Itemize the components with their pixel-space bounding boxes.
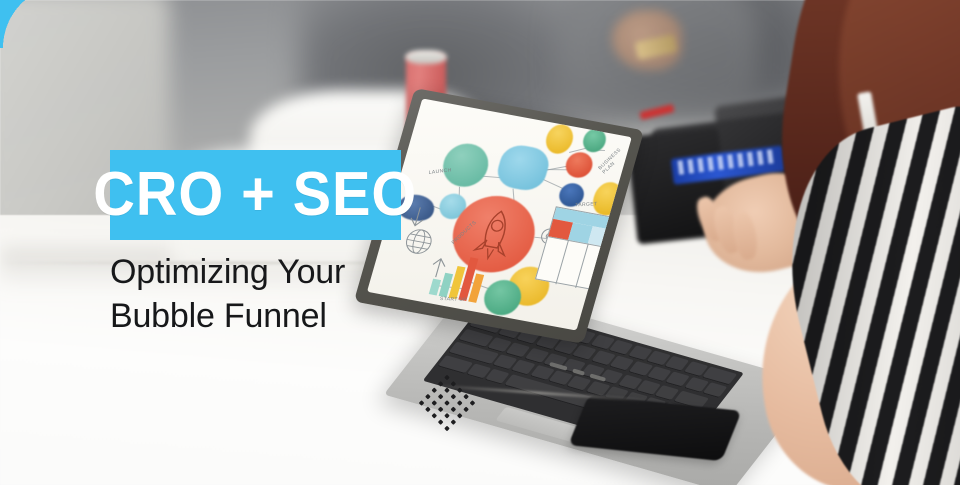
- grid-dot: [457, 387, 463, 393]
- grid-dot: [438, 420, 444, 426]
- screen-label-plan: BUSINESS PLAN: [597, 149, 625, 176]
- blue-corner-wedge: [0, 0, 60, 48]
- grid-dot: [464, 394, 470, 400]
- grid-dot: [451, 420, 457, 426]
- grid-dot: [444, 387, 450, 393]
- grid-dot: [451, 407, 457, 413]
- grid-dot: [438, 394, 444, 400]
- grid-dot: [431, 387, 437, 393]
- screen-label-target: TARGET: [575, 201, 597, 208]
- grid-dot: [457, 400, 463, 406]
- grid-dot: [425, 394, 431, 400]
- headline-text: CRO + SEO: [94, 163, 418, 227]
- grid-dot: [457, 413, 463, 419]
- subheadline-line-1: Optimizing Your: [110, 250, 530, 294]
- grid-dot: [425, 407, 431, 413]
- grid-dot: [470, 400, 476, 406]
- grid-dot: [464, 407, 470, 413]
- grid-dot: [444, 413, 450, 419]
- grid-dot: [431, 400, 437, 406]
- bubble-blue-panel: [493, 142, 553, 193]
- subheadline: Optimizing Your Bubble Funnel: [110, 250, 530, 338]
- grid-dot: [451, 394, 457, 400]
- headline-badge: CRO + SEO: [110, 150, 401, 240]
- marketing-banner: LAUNCH PRODUCTS BUSINESS PLAN TARGET STA…: [0, 0, 960, 485]
- grid-dot: [451, 381, 457, 387]
- grid-dot: [444, 374, 450, 380]
- bubble-yellow-bulb: [589, 180, 626, 218]
- bubble-teal-large: [438, 140, 494, 190]
- bubble-red-node: [563, 150, 596, 180]
- subheadline-line-2: Bubble Funnel: [110, 294, 530, 338]
- grid-dot: [444, 426, 450, 432]
- grid-dot: [438, 407, 444, 413]
- grid-dot: [438, 381, 444, 387]
- table-sketch: [535, 206, 615, 290]
- grid-dot: [418, 400, 424, 406]
- grid-dot: [444, 400, 450, 406]
- grid-dot: [431, 413, 437, 419]
